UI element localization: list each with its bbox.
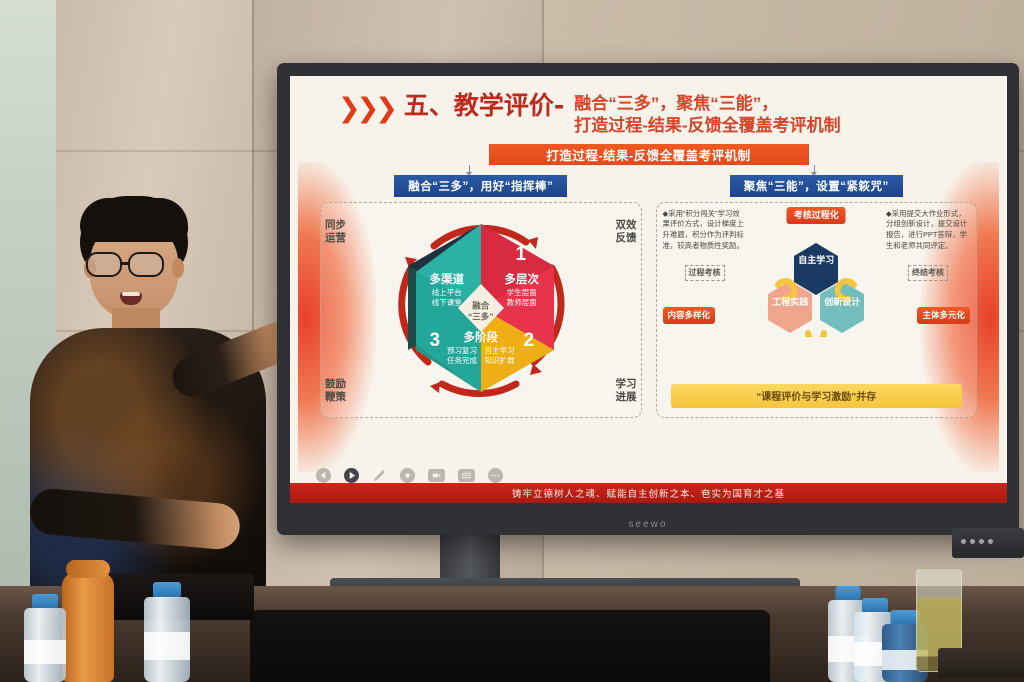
- chevron-right-icon: ❯❯❯: [338, 92, 394, 122]
- corner-label-line1: 双效: [616, 219, 637, 231]
- banner-connectors: [304, 165, 993, 174]
- hex-innovative-design: 创新设计: [790, 297, 894, 308]
- display-screen[interactable]: ❯❯❯ 五、教学评价- 融合“三多”，聚焦“三能”， 打造过程-结果-反馈全覆盖…: [290, 76, 1007, 503]
- camera-icon[interactable]: [428, 469, 445, 482]
- display-stand-neck: [440, 535, 500, 581]
- panel-left-header: 融合“三多”，用好“指挥棒”: [394, 175, 567, 197]
- presentation-icon[interactable]: [458, 469, 475, 482]
- interactive-flat-panel-display[interactable]: ❯❯❯ 五、教学评价- 融合“三多”，聚焦“三能”， 打造过程-结果-反馈全覆盖…: [277, 63, 1019, 535]
- hex-segment-2-sub2: 任务完成 知识扩展: [436, 357, 526, 366]
- hex-segment-3-title: 多渠道: [412, 274, 482, 287]
- glasses-lens-left: [86, 252, 122, 277]
- hex-center-label: 融合 “三多”: [459, 292, 503, 330]
- slide-footer-slogan: 铸牢立德树人之魂、赋能自主创新之本、夿实为国育才之基: [290, 483, 1007, 503]
- bottle-label: [24, 640, 66, 664]
- tag-subject-pluralized: 主体多元化: [917, 307, 970, 324]
- course-evaluation-banner: “课程评价与学习激励”并存: [671, 384, 963, 408]
- panel-left-body: 同步 运营 双效 反馈 鼓励 鞭策: [320, 202, 642, 418]
- panel-right-body: ◆采用“积分闯关”学习效果评价方式，设计梯度上升难题，积分作为评判标准，较高者物…: [656, 202, 978, 418]
- glasses-bridge: [122, 262, 130, 265]
- bottle-cap: [153, 582, 181, 598]
- pen-icon[interactable]: [372, 468, 387, 483]
- corner-label-bottom-right: 学习 进展: [616, 378, 637, 404]
- corner-label-line2: 进展: [616, 391, 637, 403]
- corner-label-top-right: 双效 反馈: [616, 219, 637, 245]
- water-bottle: [144, 582, 190, 682]
- tag-process-assessment: 过程考核: [685, 265, 725, 281]
- bullet-text-left: ◆采用“积分闯关”学习效果评价方式，设计梯度上升难题，积分作为评判标准，较高者物…: [663, 209, 747, 252]
- corner-label-line2: 运营: [325, 232, 346, 244]
- hex-center-line2: “三多”: [468, 311, 494, 322]
- hexagon-cycle-diagram: 1 多层次 学生层面 教师层面 多渠道 线上平台: [376, 212, 586, 408]
- bullet-text-right: ◆采用提交大作业形式，分组创新设计，提交设计报告，进行PPT答辩，学生和老师共同…: [886, 209, 970, 252]
- competency-hexagon-cluster: 自主学习 工程实践 创新设计: [764, 241, 868, 337]
- hex-segment-1-title: 多层次: [486, 274, 558, 287]
- hex-segment-1-number: 1: [488, 244, 554, 266]
- hex-segment-2-number: 2: [514, 330, 544, 352]
- hex-center-line1: 融合: [472, 300, 489, 311]
- corner-label-line1: 学习: [616, 378, 637, 390]
- slide-toolbar[interactable]: [290, 468, 1007, 483]
- panel-right: 聚焦“三能”，设置“紧篍咒” ◆采用“积分闯关”学习效果评价方式，设计梯度上升难…: [656, 175, 978, 418]
- hex-autonomous-learning: 自主学习: [764, 255, 868, 266]
- orange-thermos: [62, 572, 114, 682]
- presenter-hair-front: [80, 198, 188, 242]
- presentation-room-scene: ❯❯❯ 五、教学评价- 融合“三多”，聚焦“三能”， 打造过程-结果-反馈全覆盖…: [0, 0, 1024, 682]
- thermos-lid: [66, 560, 110, 578]
- slide-banner: 打造过程-结果-反馈全覆盖考评机制: [489, 144, 809, 165]
- presenter-ear-right: [172, 258, 184, 278]
- presenter: [24, 196, 294, 616]
- water-bottle: [24, 594, 66, 682]
- notebook: [938, 648, 1024, 678]
- panel-right-header: 聚焦“三能”，设置“紧篍咒”: [730, 175, 903, 197]
- corner-label-line1: 鼓励: [325, 378, 346, 390]
- hex-segment-2-title: 多阶段: [436, 332, 526, 345]
- play-icon[interactable]: [344, 468, 359, 483]
- corner-label-line2: 反馈: [616, 232, 637, 244]
- corner-label-bottom-left: 鼓励 鞭策: [325, 378, 346, 404]
- glasses-lens-right: [128, 252, 164, 277]
- slide-title: 五、教学评价-: [404, 92, 564, 120]
- assessment-process-badge: 考核过程化: [787, 207, 846, 225]
- slide-panels: 融合“三多”，用好“指挥棒” 同步 运营 双效 反馈 鼓励: [304, 175, 993, 418]
- side-control-unit[interactable]: [952, 528, 1024, 558]
- bottle-cap: [32, 594, 58, 609]
- back-icon[interactable]: [316, 468, 331, 483]
- hex-segment-2-sub1: 预习复习 自主学习: [436, 347, 526, 356]
- slide-subtitle-line2: 打造过程-结果-反馈全覆盖考评机制: [574, 116, 840, 135]
- slide-title-row: ❯❯❯ 五、教学评价- 融合“三多”，聚焦“三能”， 打造过程-结果-反馈全覆盖…: [304, 86, 993, 137]
- indicator-dots: [952, 528, 1024, 544]
- corner-label-line1: 同步: [325, 219, 346, 231]
- panel-left: 融合“三多”，用好“指挥棒” 同步 运营 双效 反馈 鼓励: [320, 175, 642, 418]
- tag-summative-assessment: 终结考核: [908, 265, 948, 281]
- bottle-label: [144, 632, 190, 660]
- tag-content-diversified: 内容多样化: [663, 307, 716, 324]
- table-dark-surface: [250, 610, 770, 682]
- seewo-brand-logo: seewo: [277, 519, 1019, 530]
- hex-segment-2: 多阶段 预习复习 自主学习 任务完成 知识扩展: [436, 332, 526, 366]
- slide-content: ❯❯❯ 五、教学评价- 融合“三多”，聚焦“三能”， 打造过程-结果-反馈全覆盖…: [290, 76, 1007, 503]
- slide-subtitle: 融合“三多”，聚焦“三能”， 打造过程-结果-反馈全覆盖考评机制: [574, 92, 840, 137]
- corner-label-line2: 鞭策: [325, 391, 346, 403]
- more-icon[interactable]: [488, 468, 503, 483]
- corner-label-top-left: 同步 运营: [325, 219, 346, 245]
- record-icon[interactable]: [400, 468, 415, 483]
- slide-subtitle-line1: 融合“三多”，聚焦“三能”，: [574, 94, 778, 113]
- right-panel-content: ◆采用“积分闯关”学习效果评价方式，设计梯度上升难题，积分作为评判标准，较高者物…: [657, 203, 977, 417]
